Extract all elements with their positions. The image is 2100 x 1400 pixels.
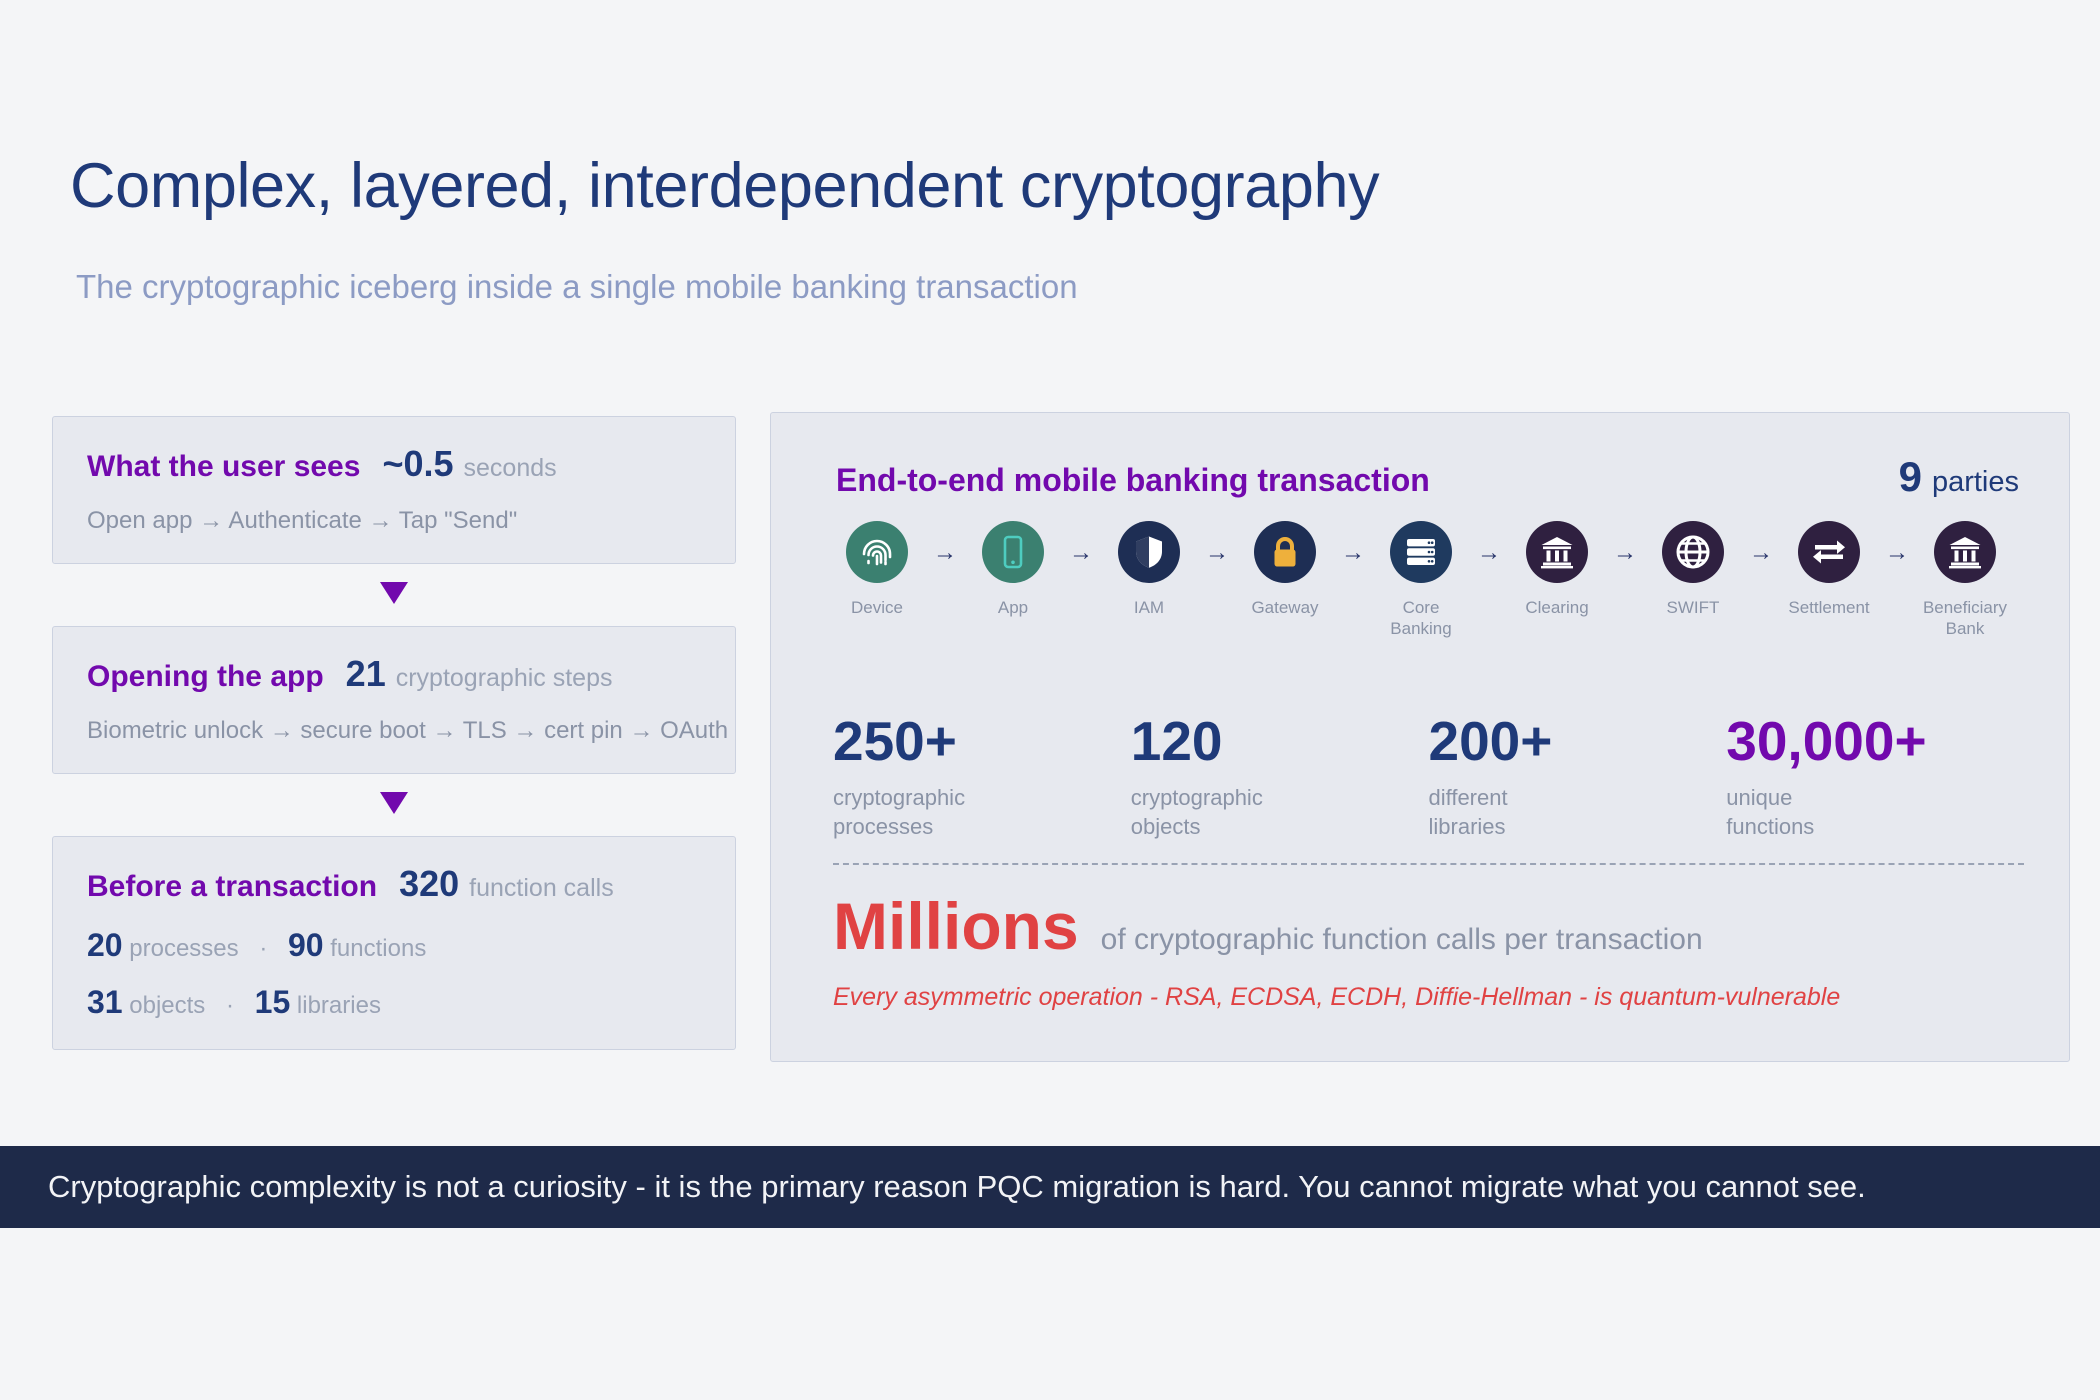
- stat-word: functions: [330, 935, 426, 962]
- globe-icon: [1662, 521, 1724, 583]
- banner-text: Cryptographic complexity is not a curios…: [48, 1169, 1866, 1205]
- bank-building-icon: [1934, 521, 1996, 583]
- stat-number: 31: [87, 984, 123, 1020]
- card-header: What the user sees ~0.5 seconds: [87, 443, 701, 485]
- chain-node-clearing[interactable]: Clearing: [1506, 521, 1608, 618]
- stat-number: 20: [87, 927, 123, 963]
- stat-separator: ·: [259, 935, 267, 962]
- page-subtitle: The cryptographic iceberg inside a singl…: [76, 268, 1078, 306]
- chain-arrow-icon: →: [1880, 539, 1914, 567]
- panel-stat-caption: cryptographicobjects: [1131, 783, 1429, 842]
- panel-stat-caption: uniquefunctions: [1726, 783, 2024, 842]
- chain-node-device[interactable]: Device: [826, 521, 928, 618]
- left-column: What the user sees ~0.5 seconds Open app…: [52, 416, 736, 1050]
- chain-node-label: BeneficiaryBank: [1923, 597, 2007, 640]
- chain-arrow-icon: →: [1744, 539, 1778, 567]
- bottom-banner: Cryptographic complexity is not a curios…: [0, 1146, 2100, 1228]
- stat-number: 15: [255, 984, 291, 1020]
- card-number: 320: [399, 863, 459, 905]
- panel-stat-caption: differentlibraries: [1429, 783, 1727, 842]
- panel-stat-value: 120: [1131, 713, 1429, 771]
- dashed-divider: [833, 863, 2024, 865]
- chain-arrow-icon: →: [1472, 539, 1506, 567]
- chain-node-label: App: [998, 597, 1028, 618]
- chain-node-label: SWIFT: [1667, 597, 1720, 618]
- card-flow-text: Biometric unlock → secure boot → TLS → c…: [87, 717, 701, 745]
- server-rack-icon: [1390, 521, 1452, 583]
- stat-number: 90: [288, 927, 324, 963]
- end-to-end-transaction-panel: End-to-end mobile banking transaction 9 …: [770, 412, 2070, 1062]
- flow-arrow-down-1: [52, 564, 736, 626]
- flow-arrow-down-2: [52, 774, 736, 836]
- quantum-vulnerable-warning: Every asymmetric operation - RSA, ECDSA,…: [833, 983, 2024, 1012]
- chain-arrow-icon: →: [928, 539, 962, 567]
- chain-arrow-icon: →: [1608, 539, 1642, 567]
- chain-node-label: CoreBanking: [1390, 597, 1451, 640]
- padlock-icon: [1254, 521, 1316, 583]
- card-number: 21: [346, 653, 386, 695]
- panel-stat-caption: cryptographicprocesses: [833, 783, 1131, 842]
- card-opening-the-app: Opening the app 21 cryptographic steps B…: [52, 626, 736, 774]
- chain-arrow-icon: →: [1336, 539, 1370, 567]
- shield-icon: [1118, 521, 1180, 583]
- card-stats-line-2: 31 objects · 15 libraries: [87, 984, 701, 1021]
- card-header: Before a transaction 320 function calls: [87, 863, 701, 905]
- chain-node-iam[interactable]: IAM: [1098, 521, 1200, 618]
- chain-node-label: Gateway: [1251, 597, 1318, 618]
- card-number: ~0.5: [382, 443, 453, 485]
- panel-stat-value: 200+: [1429, 713, 1727, 771]
- chain-node-label: Settlement: [1788, 597, 1869, 618]
- page-title: Complex, layered, interdependent cryptog…: [70, 150, 1379, 222]
- chain-node-core-banking[interactable]: CoreBanking: [1370, 521, 1472, 640]
- card-unit: seconds: [464, 454, 557, 483]
- chain-node-swift[interactable]: SWIFT: [1642, 521, 1744, 618]
- panel-stat-value: 30,000+: [1726, 713, 2024, 771]
- card-header: Opening the app 21 cryptographic steps: [87, 653, 701, 695]
- chain-node-gateway[interactable]: Gateway: [1234, 521, 1336, 618]
- card-label: What the user sees: [87, 450, 360, 484]
- chain-arrow-icon: →: [1200, 539, 1234, 567]
- card-unit: function calls: [469, 874, 614, 903]
- chain-node-app[interactable]: App: [962, 521, 1064, 618]
- chain-node-label: Device: [851, 597, 903, 618]
- panel-header: End-to-end mobile banking transaction 9 …: [836, 453, 2019, 501]
- chain-node-beneficiary-bank[interactable]: BeneficiaryBank: [1914, 521, 2016, 640]
- card-flow-text: Open app → Authenticate → Tap "Send": [87, 507, 701, 535]
- chain-node-settlement[interactable]: Settlement: [1778, 521, 1880, 618]
- transaction-chain: Device→ App→ IAM→ Gateway→ CoreBanking→ …: [826, 521, 2029, 640]
- fingerprint-icon: [846, 521, 908, 583]
- panel-stat: 120cryptographicobjects: [1131, 713, 1429, 842]
- stat-word: libraries: [297, 992, 381, 1019]
- card-before-a-transaction: Before a transaction 320 function calls …: [52, 836, 736, 1050]
- panel-stat: 30,000+uniquefunctions: [1726, 713, 2024, 842]
- panel-title: End-to-end mobile banking transaction: [836, 462, 1430, 499]
- mobile-phone-icon: [982, 521, 1044, 583]
- exchange-arrows-icon: [1798, 521, 1860, 583]
- chain-node-label: IAM: [1134, 597, 1164, 618]
- stat-word: objects: [129, 992, 205, 1019]
- card-stats-line-1: 20 processes · 90 functions: [87, 927, 701, 964]
- panel-stats-row: 250+cryptographicprocesses120cryptograph…: [833, 713, 2024, 842]
- millions-headline-row: Millions of cryptographic function calls…: [833, 893, 2024, 959]
- parties-label: parties: [1932, 466, 2019, 499]
- stat-separator: ·: [226, 992, 234, 1019]
- chain-arrow-icon: →: [1064, 539, 1098, 567]
- panel-stat-value: 250+: [833, 713, 1131, 771]
- stat-word: processes: [129, 935, 238, 962]
- panel-stat: 250+cryptographicprocesses: [833, 713, 1131, 842]
- millions-headline: Millions: [833, 893, 1079, 959]
- millions-subtext: of cryptographic function calls per tran…: [1101, 923, 1703, 957]
- parties-count: 9: [1899, 453, 1922, 501]
- card-what-the-user-sees: What the user sees ~0.5 seconds Open app…: [52, 416, 736, 564]
- card-label: Opening the app: [87, 660, 324, 694]
- bank-building-icon: [1526, 521, 1588, 583]
- card-unit: cryptographic steps: [396, 664, 613, 693]
- panel-stat: 200+differentlibraries: [1429, 713, 1727, 842]
- chain-node-label: Clearing: [1525, 597, 1588, 618]
- slide-root: Complex, layered, interdependent cryptog…: [0, 0, 2100, 1400]
- card-label: Before a transaction: [87, 870, 377, 904]
- parties-counter: 9 parties: [1899, 453, 2019, 501]
